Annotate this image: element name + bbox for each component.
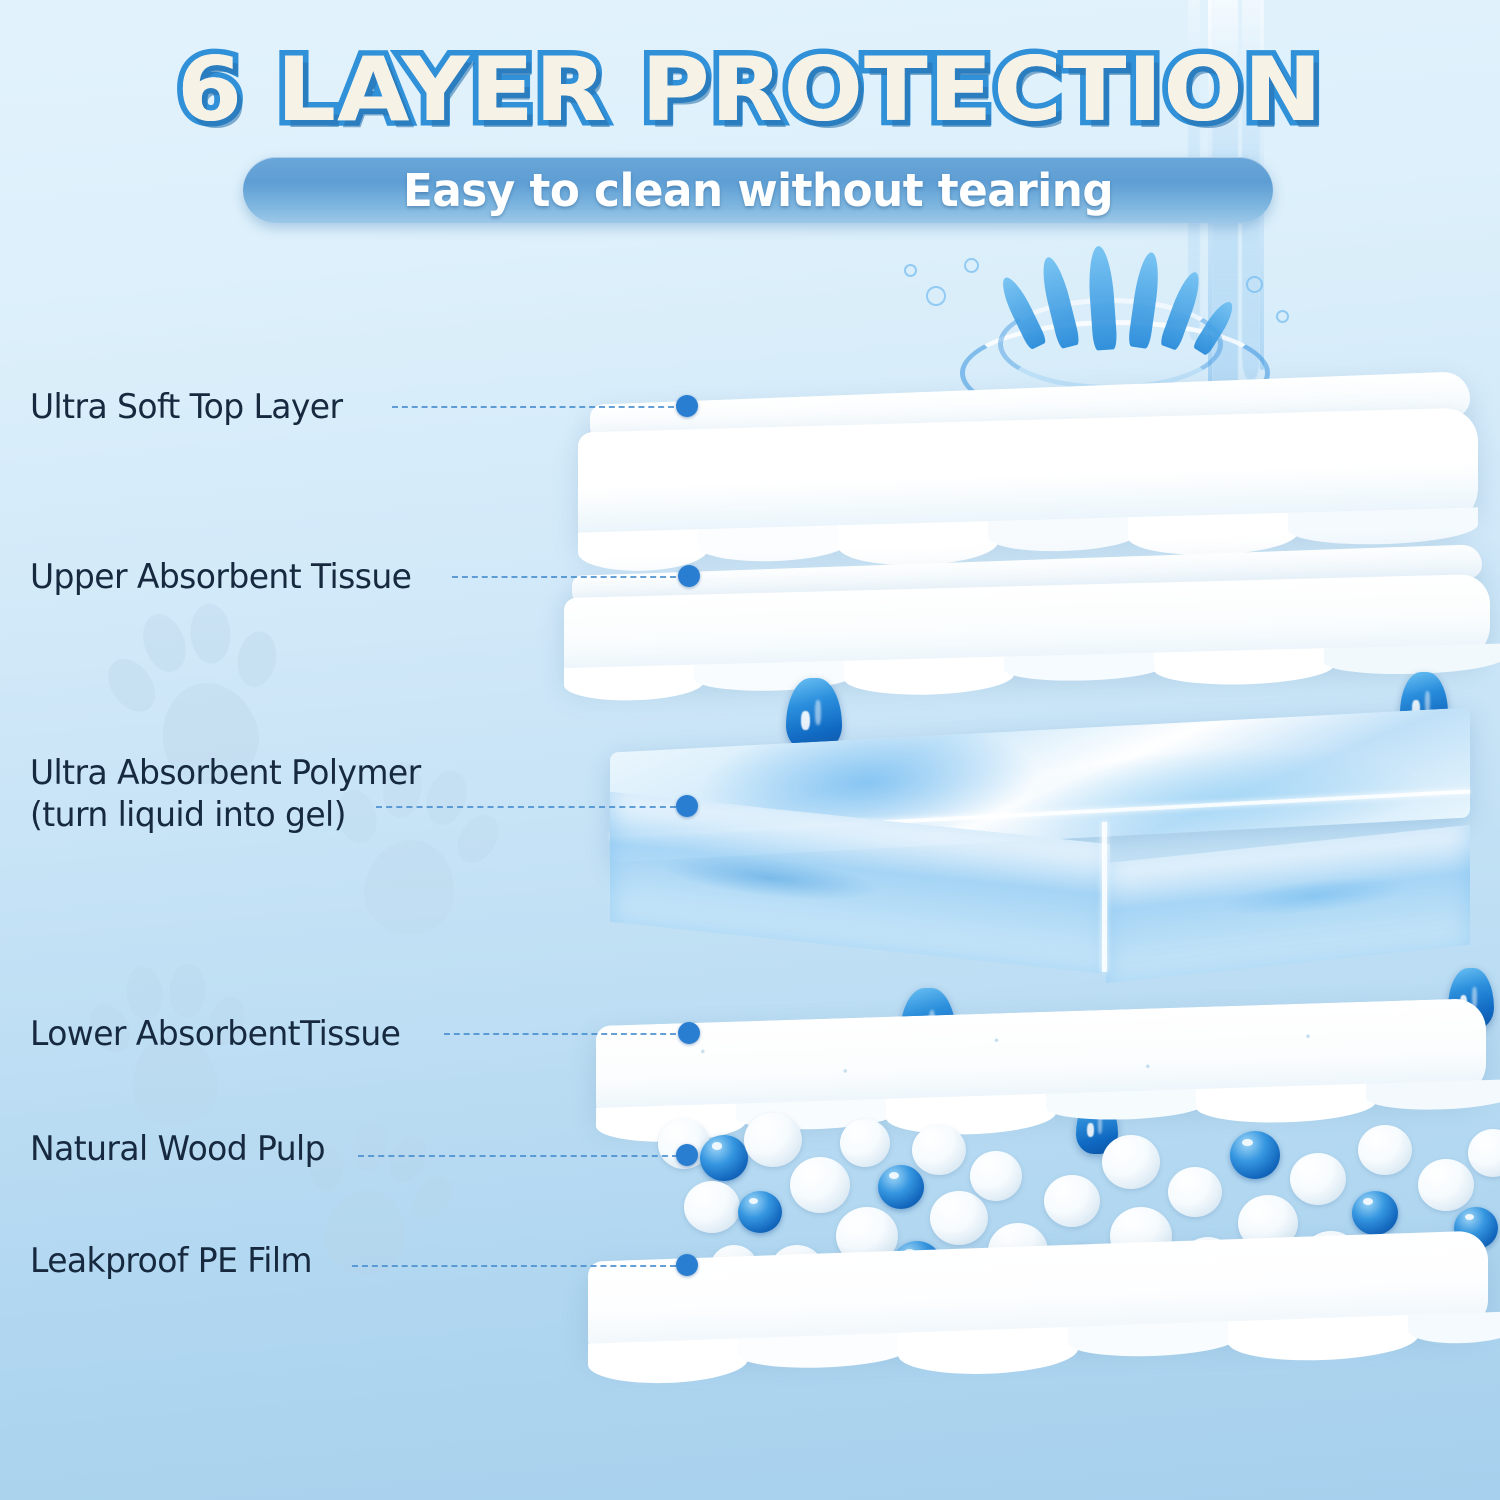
page-title: 6 LAYER PROTECTION: [0, 38, 1500, 141]
leader-line-2: [452, 576, 676, 580]
callout-upper-absorbent-tissue: Upper Absorbent Tissue: [30, 556, 423, 598]
subtitle-banner: Easy to clean without tearing: [243, 157, 1273, 223]
water-droplet-icon: [1076, 1098, 1118, 1154]
leader-line-5: [358, 1155, 678, 1159]
callout-ultra-soft-top-layer: Ultra Soft Top Layer: [30, 386, 352, 428]
leader-line-4: [444, 1033, 676, 1037]
callout-leakproof-pe-film: Leakproof PE Film: [30, 1240, 321, 1282]
label-ultra-soft-top-layer: Ultra Soft Top Layer: [30, 386, 343, 428]
leader-line-3: [376, 806, 676, 810]
leader-dot-5: [676, 1144, 698, 1166]
layer-leakproof-pe-film: [560, 1228, 1500, 1468]
water-splash: [920, 250, 1360, 450]
layer-ultra-soft-top-layer: [560, 370, 1500, 600]
leader-line-6: [352, 1265, 676, 1269]
callout-ultra-absorbent-polymer: Ultra Absorbent Polymer (turn liquid int…: [30, 752, 433, 836]
water-droplet-icon: [1400, 672, 1448, 736]
label-ultra-absorbent-polymer-line2: (turn liquid into gel): [30, 794, 346, 836]
leader-dot-3: [676, 795, 698, 817]
water-droplet-icon: [786, 678, 842, 752]
callout-natural-wood-pulp: Natural Wood Pulp: [30, 1128, 334, 1170]
infographic-canvas: 6 LAYER PROTECTION 6 LAYER PROTECTION Ea…: [0, 0, 1500, 1500]
label-leakproof-pe-film: Leakproof PE Film: [30, 1240, 312, 1282]
layer-lower-absorbent-tissue: [572, 998, 1500, 1178]
layer-ultra-absorbent-polymer: [590, 726, 1500, 1006]
layer-natural-wood-pulp: [640, 1095, 1500, 1325]
label-upper-absorbent-tissue: Upper Absorbent Tissue: [30, 556, 411, 598]
leader-dot-1: [676, 395, 698, 417]
callout-lower-absorbent-tissue: Lower AbsorbentTissue: [30, 1013, 412, 1055]
label-natural-wood-pulp: Natural Wood Pulp: [30, 1128, 325, 1170]
leader-line-1: [392, 406, 674, 410]
water-droplet-icon: [900, 988, 956, 1062]
water-droplet-icon: [1290, 1040, 1342, 1110]
leader-dot-6: [676, 1254, 698, 1276]
leader-dot-4: [678, 1022, 700, 1044]
label-ultra-absorbent-polymer-line1: Ultra Absorbent Polymer: [30, 752, 421, 794]
label-lower-absorbent-tissue: Lower AbsorbentTissue: [30, 1013, 400, 1055]
subtitle-text: Easy to clean without tearing: [403, 164, 1113, 217]
water-droplet-icon: [1448, 968, 1494, 1030]
water-droplet-icon: [1148, 728, 1210, 812]
leader-dot-2: [678, 565, 700, 587]
